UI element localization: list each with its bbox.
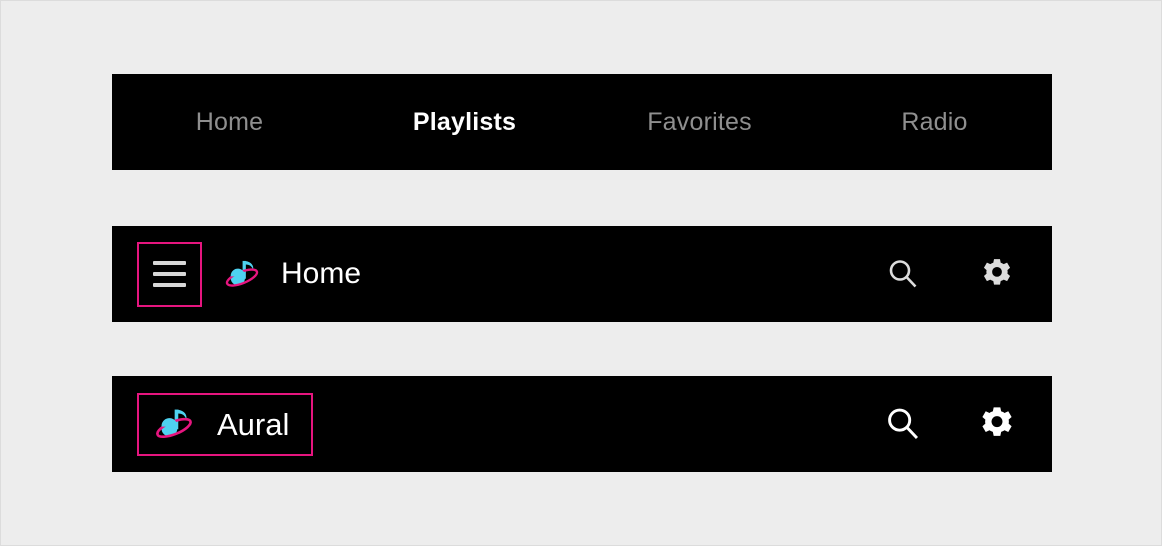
app-bar-brand-actions xyxy=(878,399,1052,449)
page-root: { "theme": { "page_background": "#ededed… xyxy=(0,0,1162,546)
tab-playlists[interactable]: Playlists xyxy=(347,110,582,135)
aural-note-planet-logo xyxy=(223,255,261,293)
top-tab-bar: Home Playlists Favorites Radio xyxy=(112,74,1052,170)
hamburger-line xyxy=(153,272,186,276)
gear-icon xyxy=(978,405,1016,443)
settings-button[interactable] xyxy=(974,251,1020,297)
search-button[interactable] xyxy=(880,251,926,297)
tab-radio[interactable]: Radio xyxy=(817,110,1052,135)
app-bar-brand: Aural xyxy=(112,376,1052,472)
brand-button[interactable]: Aural xyxy=(137,393,313,456)
tab-favorites[interactable]: Favorites xyxy=(582,110,817,135)
page-title: Home xyxy=(281,259,361,289)
hamburger-line xyxy=(153,261,186,265)
gear-icon xyxy=(980,257,1014,291)
hamburger-icon[interactable] xyxy=(137,242,202,307)
settings-button[interactable] xyxy=(972,399,1022,449)
search-button[interactable] xyxy=(878,399,928,449)
aural-note-planet-logo xyxy=(153,403,195,445)
app-bar-home-left: Home xyxy=(112,242,880,307)
tab-home[interactable]: Home xyxy=(112,110,347,135)
app-bar-brand-left: Aural xyxy=(112,393,878,456)
search-icon xyxy=(886,257,920,291)
app-bar-home: Home xyxy=(112,226,1052,322)
search-icon xyxy=(884,405,922,443)
app-bar-home-actions xyxy=(880,251,1052,297)
brand-title: Aural xyxy=(217,409,289,440)
hamburger-line xyxy=(153,283,186,287)
